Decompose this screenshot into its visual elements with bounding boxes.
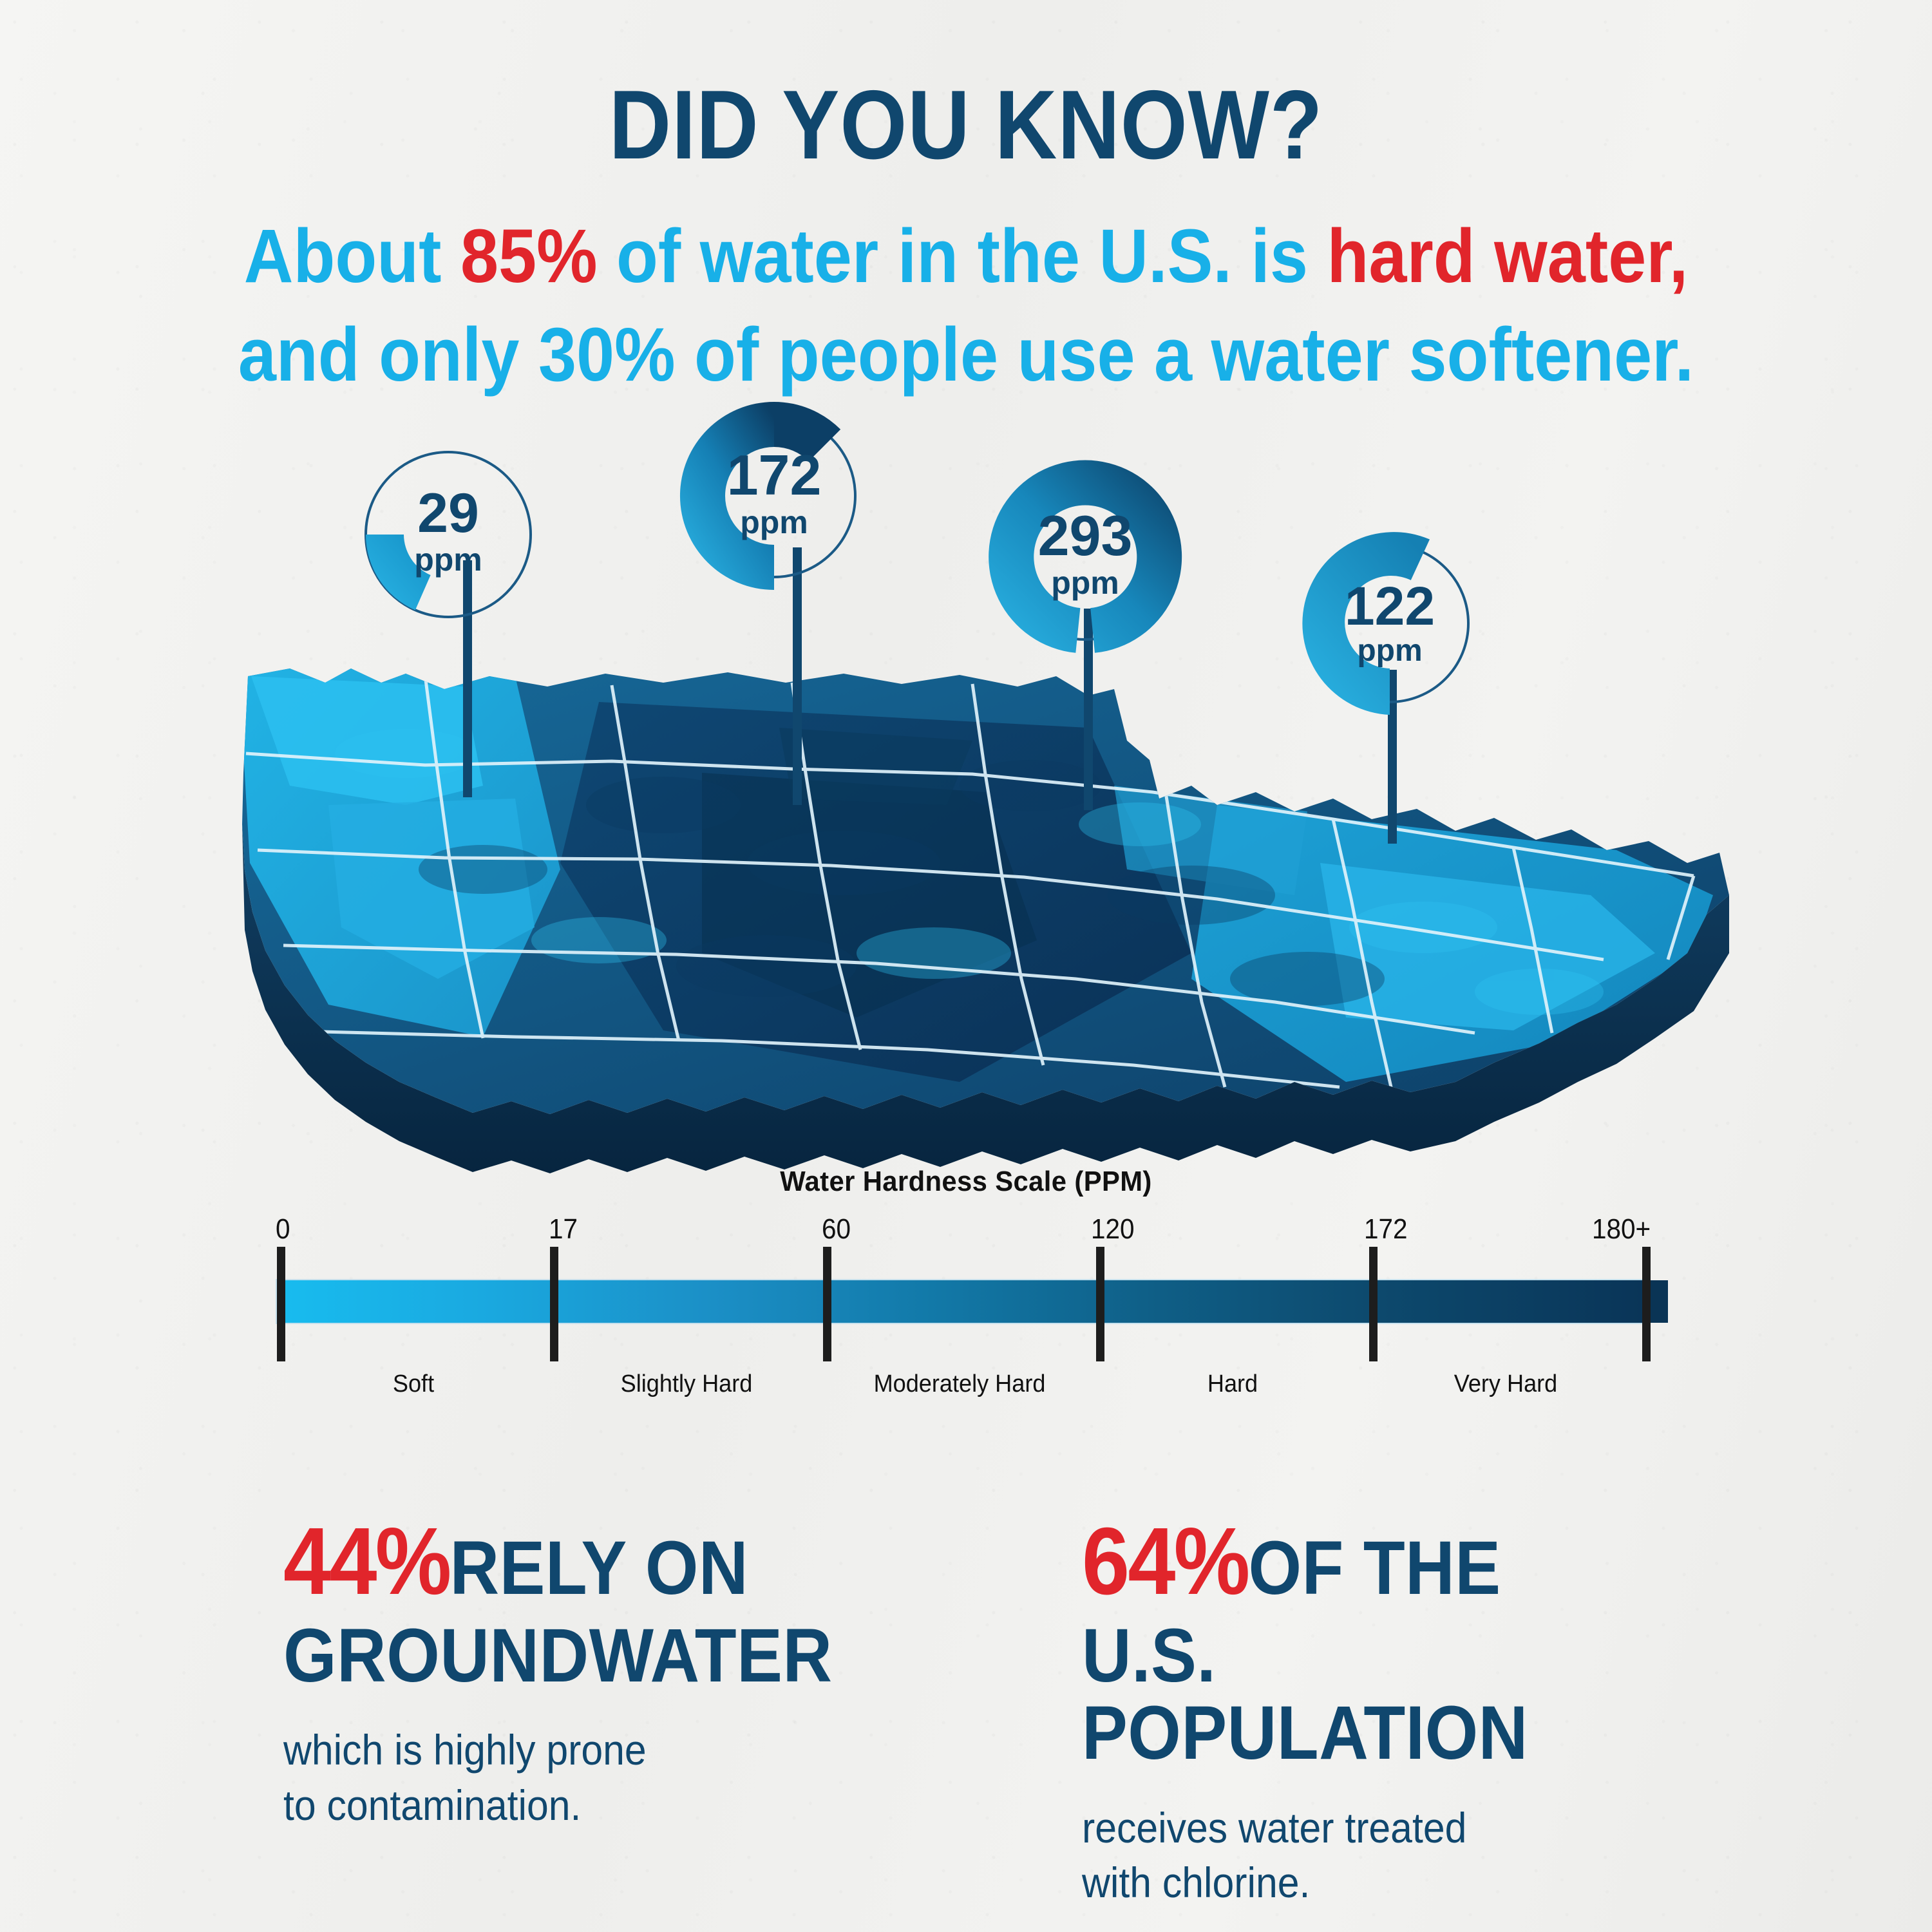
stat-chlorine: 64%OF THE U.S. POPULATION receives water… (1082, 1513, 1726, 1911)
callout-172-svg: 172 ppm (677, 399, 909, 811)
headline-text-of-water: of water in the U.S. is (598, 214, 1327, 299)
scale-tick-172: 172 (1369, 1247, 1378, 1361)
scale-tick-label-172: 172 (1364, 1213, 1408, 1245)
scale-segment-slightly-hard: Slightly Hard (556, 1370, 816, 1398)
scale-tick-label-0: 0 (276, 1213, 290, 1245)
stat-groundwater: 44%RELY ON GROUNDWATER which is highly p… (283, 1513, 927, 1911)
scale-segment-very-hard: Very Hard (1376, 1370, 1635, 1398)
scale-title: Water Hardness Scale (PPM) (48, 1166, 1884, 1198)
stat-chlorine-heading: 64%OF THE U.S. POPULATION (1082, 1513, 1662, 1772)
callout-badge-172[interactable]: 172 ppm (677, 399, 909, 811)
stat-chlorine-subtext-1: receives water treated (1082, 1804, 1466, 1851)
scale-segment-moderately-hard: Moderately Hard (829, 1370, 1089, 1398)
scale-tick-17: 17 (550, 1247, 558, 1361)
callout-badge-122[interactable]: 122 ppm (1294, 528, 1507, 850)
water-hardness-scale: Water Hardness Scale (PPM) 0 17 60 120 1… (0, 1166, 1932, 1401)
stat-groundwater-subtext-2: to contamination. (283, 1781, 581, 1829)
bottom-statistics: 44%RELY ON GROUNDWATER which is highly p… (0, 1513, 1932, 1911)
scale-tick-label-180: 180+ (1592, 1213, 1651, 1245)
stat-chlorine-subtext-2: with chlorine. (1082, 1859, 1310, 1906)
scale-tick-0: 0 (277, 1247, 285, 1361)
scale-segment-hard: Hard (1103, 1370, 1362, 1398)
callout-29-value: 29 (417, 482, 479, 544)
scale-gradient-bar (277, 1280, 1642, 1323)
headline-hard-water: hard water, (1327, 214, 1689, 299)
callout-122-svg: 122 ppm (1294, 528, 1507, 850)
stat-groundwater-caption-2: GROUNDWATER (283, 1617, 863, 1694)
callout-122-unit: ppm (1357, 634, 1422, 668)
scale-tick-120: 120 (1096, 1247, 1104, 1361)
stat-chlorine-subtext: receives water treated with chlorine. (1082, 1801, 1674, 1911)
callout-badge-293[interactable]: 293 ppm (985, 457, 1224, 818)
scale-segment-soft: Soft (283, 1370, 543, 1398)
scale-tick-60: 60 (823, 1247, 831, 1361)
callout-29-svg: 29 ppm (358, 444, 577, 805)
stat-groundwater-percent: 44% (283, 1508, 450, 1615)
callout-172-unit: ppm (740, 504, 808, 540)
scale-tick-180: 180+ (1642, 1247, 1651, 1361)
scale-tick-label-17: 17 (549, 1213, 578, 1245)
headline-line-2: and only 30% of people use a water softe… (97, 306, 1835, 404)
header: DID YOU KNOW? About 85% of water in the … (0, 0, 1932, 405)
callout-172-value: 172 (727, 443, 822, 507)
page-title: DID YOU KNOW? (116, 76, 1816, 174)
callout-293-svg: 293 ppm (985, 457, 1224, 818)
callout-badge-29[interactable]: 29 ppm (358, 444, 577, 805)
stat-chlorine-percent: 64% (1082, 1508, 1248, 1615)
callout-29-unit: ppm (414, 542, 482, 578)
stat-chlorine-caption-2: U.S. POPULATION (1082, 1617, 1662, 1772)
callout-122-value: 122 (1345, 576, 1435, 636)
callout-293-value: 293 (1038, 504, 1133, 567)
stat-chlorine-caption-1: OF THE (1248, 1526, 1501, 1611)
scale-tick-label-60: 60 (822, 1213, 851, 1245)
headline-stat-85: 85% (460, 214, 598, 299)
stat-groundwater-subtext-1: which is highly prone (283, 1726, 647, 1774)
headline-line-1: About 85% of water in the U.S. is hard w… (97, 207, 1835, 306)
headline-text-about: About (244, 214, 460, 299)
stat-groundwater-caption-1: RELY ON (450, 1526, 748, 1611)
stat-groundwater-subtext: which is highly prone to contamination. (283, 1723, 876, 1833)
scale-bar-wrapper: 0 17 60 120 172 180+ Soft Slightly Hard … (263, 1234, 1670, 1401)
callout-293-unit: ppm (1051, 565, 1119, 601)
stat-groundwater-heading: 44%RELY ON GROUNDWATER (283, 1513, 863, 1694)
scale-tick-label-120: 120 (1091, 1213, 1135, 1245)
